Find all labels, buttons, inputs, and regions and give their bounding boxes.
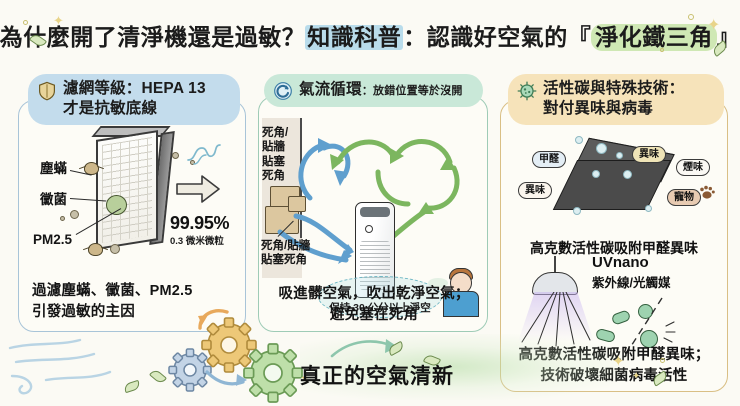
purifier-power-button[interactable] <box>365 225 373 233</box>
title-part-2: ：認識好空氣的『 <box>403 26 591 49</box>
card-carbon-heading-line2: 對付異味與病毒 <box>543 100 653 117</box>
card-filter-footer-line1: 過濾塵蟎、黴菌、PM2.5 <box>32 283 193 299</box>
card-filter-footer-line2: 引發過敏的主因 <box>32 304 135 320</box>
bubble-odor-left: 異味 <box>518 182 552 199</box>
label-deadzone-bottom-line1: 死角/貼牆 <box>261 240 310 252</box>
bubble-formaldehyde: 甲醛 <box>532 151 566 168</box>
card-filter-heading-line1: 濾網等級：HEPA 13 <box>63 80 206 97</box>
uv-tech-subtitle: 紫外線/光觸媒 <box>592 272 670 291</box>
bubble-smoke: 煙味 <box>676 159 710 176</box>
gear-blue <box>166 346 214 394</box>
card-airflow-heading-main: 氣流循環 <box>299 80 362 100</box>
label-pm25: PM2.5 <box>33 232 72 247</box>
particle-speck <box>60 216 65 221</box>
card-airflow-footer: 吸進髒空氣，吹出乾淨空氣； 避免塞在死角 <box>268 284 480 325</box>
particle-speck <box>110 244 120 254</box>
card-airflow-heading-sub: ：放錯位置等於沒開 <box>362 84 463 98</box>
card-filter-heading: 濾網等級：HEPA 13 才是抗敏底線 <box>63 79 206 119</box>
purifier-top-panel <box>360 207 390 217</box>
card-carbon-header: 活性碳與特殊技術： 對付異味與病毒 <box>508 74 724 125</box>
label-deadzone-top-line1: 死角/ <box>262 127 288 139</box>
wind-swoosh-icon <box>6 330 136 400</box>
uv-tech-title: UVnano <box>592 254 649 271</box>
circular-arrow-icon <box>273 81 293 101</box>
page-title-text: 為什麼開了清淨機還是過敏？知識科普：認識好空氣的『淨化鐵三角』 <box>0 24 740 51</box>
card-carbon-heading: 活性碳與特殊技術： 對付異味與病毒 <box>543 79 684 119</box>
water-droplet <box>573 207 581 215</box>
title-part-1: 為什麼開了清淨機還是過敏？ <box>0 26 305 49</box>
leaf-decoration-bottom-3 <box>149 368 167 385</box>
water-droplet <box>592 170 600 178</box>
page-title: 為什麼開了清淨機還是過敏？知識科普：認識好空氣的『淨化鐵三角』 <box>0 14 740 60</box>
card-filter-header: 濾網等級：HEPA 13 才是抗敏底線 <box>28 74 240 125</box>
label-deadzone-top: 死角/ 貼牆 貼塞 死角 <box>262 126 288 184</box>
label-deadzone-top-line4: 死角 <box>262 170 285 182</box>
particle-speck <box>70 210 79 219</box>
particle-speck <box>172 152 179 159</box>
water-droplet <box>623 170 632 179</box>
filtration-rate-value: 99.95% <box>170 213 229 234</box>
clean-air-arrow-icon <box>176 174 220 204</box>
bubble-pet: 寵物 <box>667 189 701 206</box>
water-droplet <box>596 143 607 154</box>
bubble-odor-top: 異味 <box>632 146 666 163</box>
clean-airflow-swirl-icon <box>186 140 226 171</box>
card-airflow-header: 氣流循環：放錯位置等於沒開 <box>264 74 483 107</box>
filter-mesh-lines <box>102 137 152 243</box>
water-droplet <box>645 205 652 212</box>
label-deadzone-top-line3: 貼塞 <box>262 156 285 168</box>
virus-icon <box>517 81 537 101</box>
bottom-slogan: 真正的空氣清新 <box>300 360 454 390</box>
label-deadzone-bottom-line2: 貼塞死角 <box>261 254 307 266</box>
dust-mite-icon <box>88 243 103 256</box>
title-highlight-triangle: 淨化鐵三角 <box>591 24 717 51</box>
title-highlight-knowledge: 知識科普 <box>305 25 403 50</box>
filtration-rate-note: 0.3 微米微粒 <box>170 233 224 247</box>
filter-media-panel <box>96 130 158 250</box>
label-mold: 黴菌 <box>40 188 67 208</box>
gear-green <box>240 340 306 406</box>
infographic-canvas: 為什麼開了清淨機還是過敏？知識科普：認識好空氣的『淨化鐵三角』 ✦ ✦ 濾網等級… <box>0 0 740 404</box>
title-part-3: 』 <box>717 26 740 49</box>
card-airflow-footer-line1: 吸進髒空氣，吹出乾淨空氣； <box>278 286 469 302</box>
label-dust-mite: 塵蟎 <box>40 157 67 177</box>
card-airflow-heading: 氣流循環：放錯位置等於沒開 <box>299 80 463 100</box>
water-droplet <box>616 152 623 159</box>
water-droplet <box>575 136 583 144</box>
card-filter-heading-line2: 才是抗敏底線 <box>63 100 157 117</box>
label-deadzone-top-line2: 貼牆 <box>262 141 285 153</box>
card-airflow-footer-line2: 避免塞在死角 <box>330 307 418 323</box>
label-deadzone-bottom: 死角/貼牆 貼塞死角 <box>261 239 310 268</box>
card-carbon-heading-line1: 活性碳與特殊技術： <box>543 80 684 97</box>
shield-icon <box>37 81 57 101</box>
